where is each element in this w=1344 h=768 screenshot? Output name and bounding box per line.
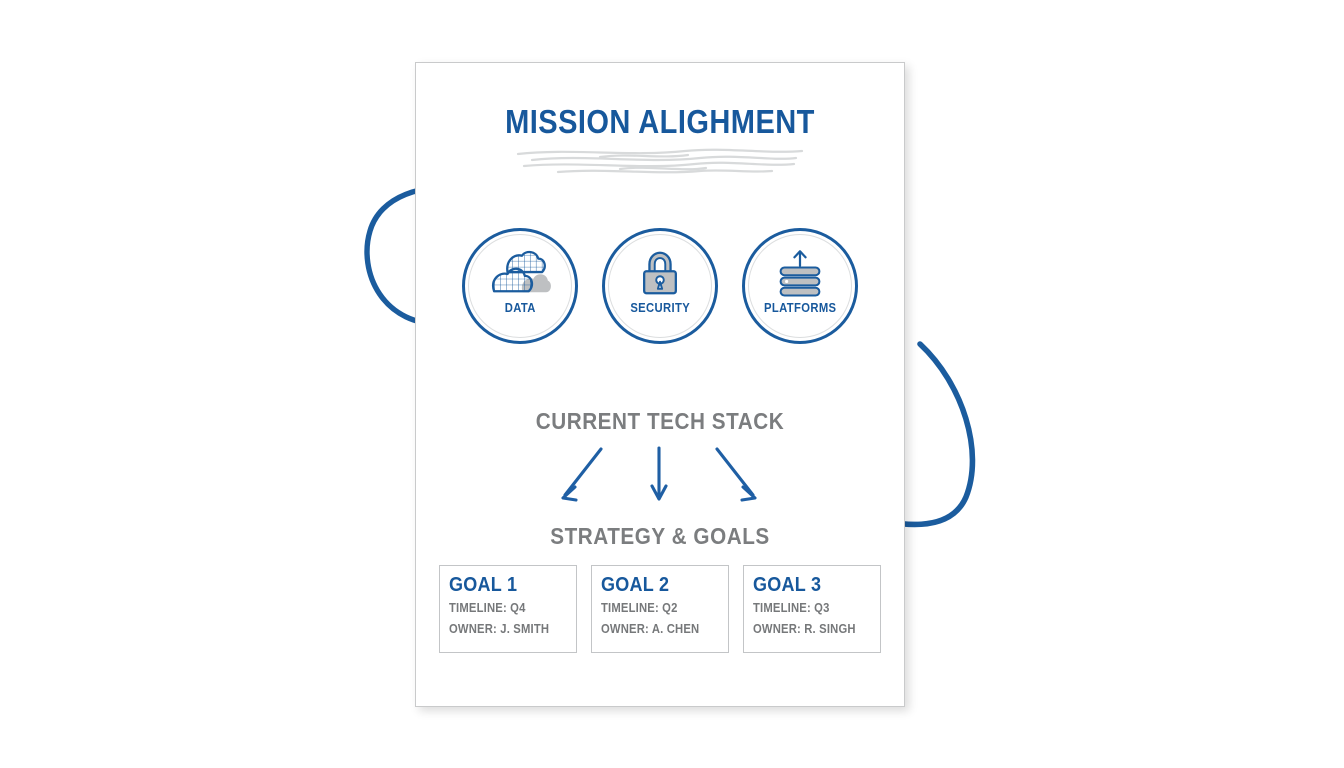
page-title: MISSION ALIGHMENT <box>445 103 874 141</box>
canvas: MISSION ALIGHMENT <box>0 0 1344 768</box>
goal-card[interactable]: GOAL 1 TIMELINE: Q4 OWNER: J. SMITH <box>439 565 577 653</box>
goal-card-row: GOAL 1 TIMELINE: Q4 OWNER: J. SMITH GOAL… <box>439 565 881 653</box>
icon-circle-security[interactable]: SECURITY <box>602 228 718 344</box>
goal-title: GOAL 3 <box>753 575 867 596</box>
goal-title: GOAL 2 <box>601 575 715 596</box>
icon-row: DATA SECURITY <box>416 228 904 344</box>
goal-timeline: TIMELINE: Q4 <box>449 600 563 617</box>
slide-sheet: MISSION ALIGHMENT <box>415 62 905 707</box>
subtitle-scribble-placeholder <box>510 145 810 179</box>
goal-owner: OWNER: J. SMITH <box>449 621 563 638</box>
cloud-stack-icon <box>487 247 553 299</box>
goal-owner: OWNER: R. SINGH <box>753 621 867 638</box>
icon-label-data: DATA <box>504 301 535 315</box>
icon-circle-data[interactable]: DATA <box>462 228 578 344</box>
tech-stack-label: CURRENT TECH STACK <box>440 408 879 435</box>
icon-label-platforms: PLATFORMS <box>764 301 836 315</box>
goal-title: GOAL 1 <box>449 575 563 596</box>
strategy-goals-label: STRATEGY & GOALS <box>440 523 879 550</box>
goal-timeline: TIMELINE: Q3 <box>753 600 867 617</box>
goal-timeline: TIMELINE: Q2 <box>601 600 715 617</box>
icon-circle-platforms[interactable]: PLATFORMS <box>742 228 858 344</box>
padlock-icon <box>627 247 693 299</box>
server-stack-up-arrow-icon <box>767 247 833 299</box>
goal-card[interactable]: GOAL 3 TIMELINE: Q3 OWNER: R. SINGH <box>743 565 881 653</box>
goal-card[interactable]: GOAL 2 TIMELINE: Q2 OWNER: A. CHEN <box>591 565 729 653</box>
goal-owner: OWNER: A. CHEN <box>601 621 715 638</box>
fan-arrows <box>545 443 775 515</box>
icon-label-security: SECURITY <box>630 301 690 315</box>
